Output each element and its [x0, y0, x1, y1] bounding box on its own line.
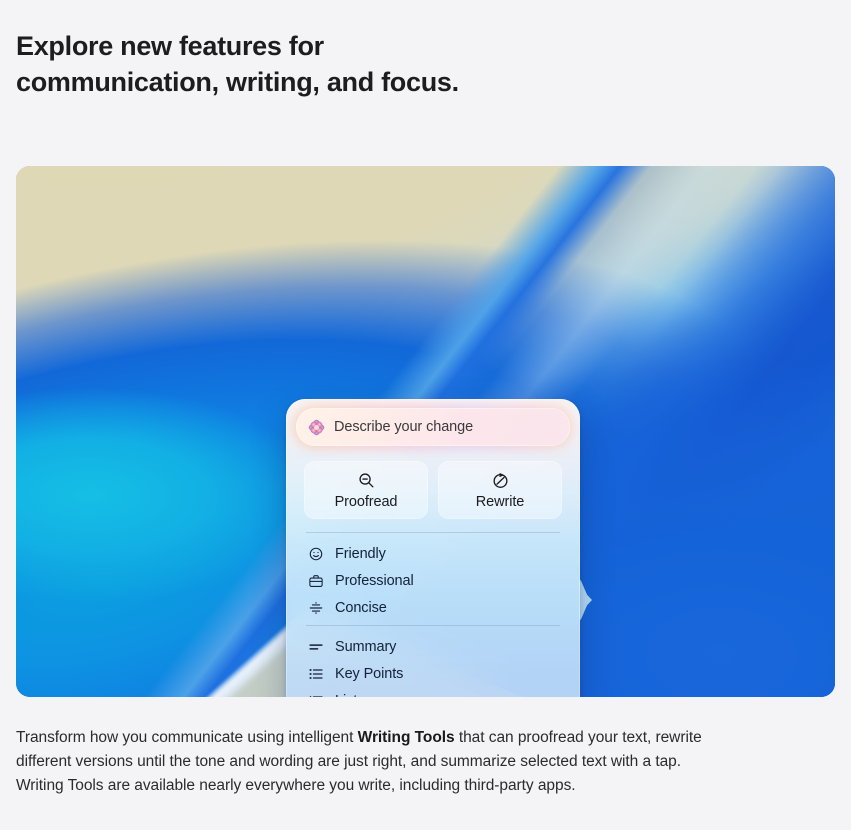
- tone-menu-group: Friendly Professional: [304, 540, 562, 621]
- separator-2: [306, 625, 560, 626]
- describe-change-placeholder: Describe your change: [334, 419, 473, 435]
- writing-tools-popover: Describe your change Proofread: [286, 399, 580, 697]
- smiley-icon: [307, 545, 325, 563]
- menu-item-professional[interactable]: Professional: [304, 567, 562, 594]
- menu-label-professional: Professional: [335, 573, 414, 589]
- menu-label-list: List: [335, 693, 357, 698]
- hero-image: Describe your change Proofread: [16, 166, 835, 697]
- describe-change-field-wrapper: Describe your change: [296, 408, 570, 446]
- compress-icon: [307, 599, 325, 617]
- popover-action-buttons: Proofread Rewrite: [304, 461, 562, 519]
- menu-label-concise: Concise: [335, 600, 387, 616]
- menu-item-concise[interactable]: Concise: [304, 594, 562, 621]
- menu-item-friendly[interactable]: Friendly: [304, 540, 562, 567]
- bullet-list-icon: [307, 692, 325, 698]
- menu-item-summary[interactable]: Summary: [304, 633, 562, 660]
- briefcase-icon: [307, 572, 325, 590]
- body-text-bold: Writing Tools: [358, 729, 455, 746]
- proofread-label: Proofread: [335, 494, 398, 510]
- menu-label-summary: Summary: [335, 639, 396, 655]
- apple-intelligence-icon: [308, 419, 325, 436]
- proofread-button[interactable]: Proofread: [304, 461, 428, 519]
- describe-change-input[interactable]: Describe your change: [296, 408, 570, 446]
- magnifier-minus-icon: [357, 471, 376, 491]
- body-paragraph: Transform how you communicate using inte…: [16, 726, 708, 798]
- separator-1: [306, 532, 560, 533]
- summary-lines-icon: [307, 638, 325, 656]
- menu-item-list[interactable]: List: [304, 687, 562, 697]
- page-title: Explore new features for communication, …: [16, 28, 716, 100]
- body-text-part-1: Transform how you communicate using inte…: [16, 729, 358, 746]
- menu-item-key-points[interactable]: Key Points: [304, 660, 562, 687]
- format-menu-group: Summary Key Points: [304, 633, 562, 697]
- menu-label-key-points: Key Points: [335, 666, 403, 682]
- rewrite-circle-icon: [491, 471, 510, 491]
- rewrite-label: Rewrite: [476, 494, 524, 510]
- rewrite-button[interactable]: Rewrite: [438, 461, 562, 519]
- menu-label-friendly: Friendly: [335, 546, 386, 562]
- key-points-list-icon: [307, 665, 325, 683]
- page-root: Explore new features for communication, …: [0, 0, 851, 830]
